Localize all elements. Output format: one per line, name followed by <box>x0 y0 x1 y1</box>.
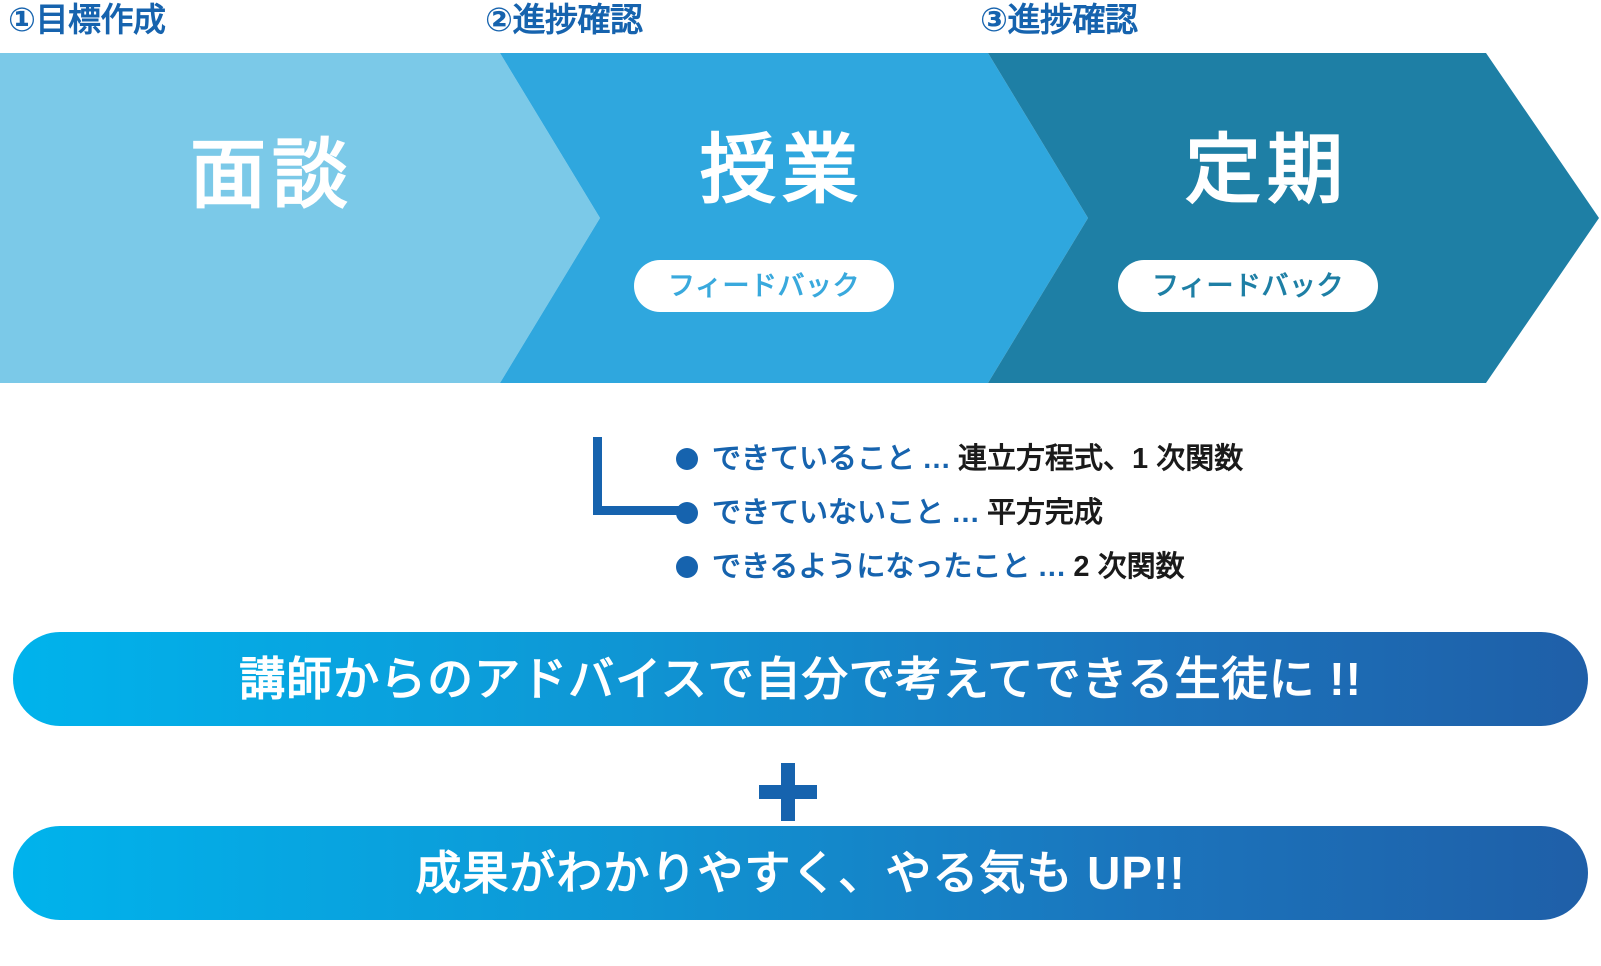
elbow-horizontal-segment <box>593 506 679 515</box>
list-item-separator: … <box>915 442 958 476</box>
list-item-label: できるようになったこと <box>712 550 1030 584</box>
list-item: できていること … 連立方程式、1 次関数 <box>676 432 1476 486</box>
feedback-pill-3[interactable]: フィードバック <box>1118 260 1378 312</box>
outcome-banner-top-text: 講師からのアドバイスで自分で考えてできる生徒に !! <box>239 652 1362 706</box>
chevron-title-2: 授業 <box>700 128 864 214</box>
list-item-value: 平方完成 <box>987 496 1103 530</box>
elbow-connector-icon <box>593 437 679 515</box>
plus-horizontal-bar <box>759 785 817 799</box>
step-label-3: ③進捗確認 <box>980 0 1137 40</box>
outcome-banner-bottom: 成果がわかりやすく、やる気も UP!! <box>13 826 1588 920</box>
process-chevron-band: 面談 授業 定期 フィードバック フィードバック <box>0 53 1601 383</box>
bullet-dot-icon <box>676 556 698 578</box>
feedback-pill-label-3: フィードバック <box>1152 271 1344 301</box>
list-item-label: できていないこと <box>712 496 944 530</box>
list-item-label: できていること <box>712 442 915 476</box>
outcome-banner-top: 講師からのアドバイスで自分で考えてできる生徒に !! <box>13 632 1588 726</box>
feedback-detail-list: できていること … 連立方程式、1 次関数 できていないこと … 平方完成 でき… <box>676 432 1476 594</box>
list-item-separator: … <box>944 496 987 530</box>
bullet-dot-icon <box>676 502 698 524</box>
plus-icon <box>759 763 817 821</box>
list-item: できるようになったこと … 2 次関数 <box>676 540 1476 594</box>
elbow-vertical-segment <box>593 437 602 515</box>
chevron-title-1: 面談 <box>190 133 354 219</box>
outcome-banner-bottom-text: 成果がわかりやすく、やる気も UP!! <box>415 846 1185 900</box>
list-item-separator: … <box>1030 550 1073 584</box>
step-label-1: ①目標作成 <box>8 0 165 40</box>
step-labels-row: ①目標作成 ②進捗確認 ③進捗確認 <box>0 0 1601 52</box>
feedback-pill-label-2: フィードバック <box>668 271 860 301</box>
list-item-value: 連立方程式、1 次関数 <box>958 442 1243 476</box>
bullet-dot-icon <box>676 448 698 470</box>
list-item-value: 2 次関数 <box>1073 550 1184 584</box>
list-item: できていないこと … 平方完成 <box>676 486 1476 540</box>
feedback-pill-2[interactable]: フィードバック <box>634 260 894 312</box>
step-label-2: ②進捗確認 <box>485 0 642 40</box>
chevron-title-3: 定期 <box>1185 128 1349 214</box>
